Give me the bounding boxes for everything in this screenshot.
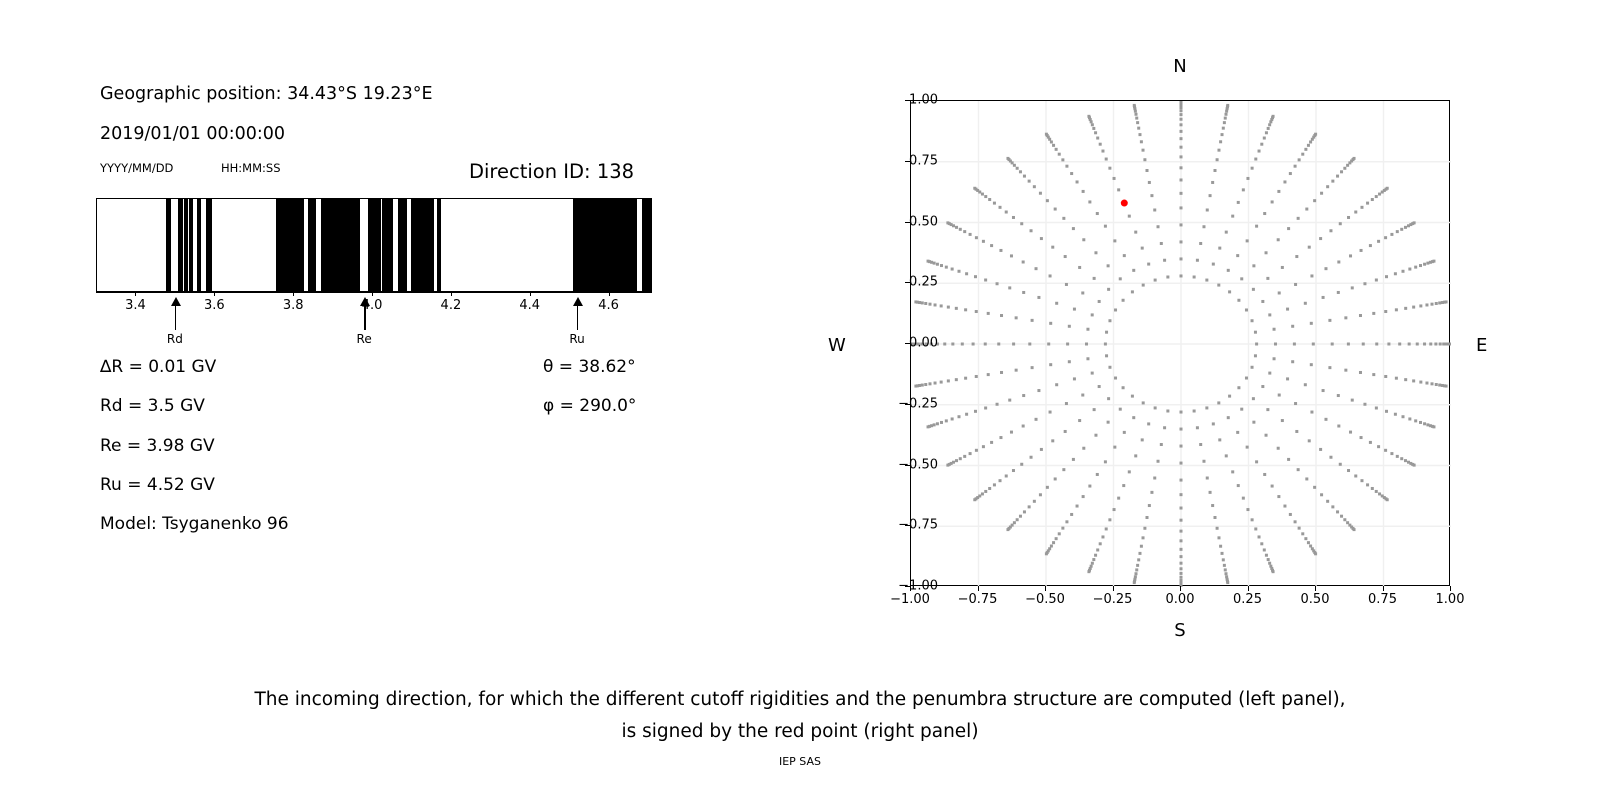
direction-point [1297,468,1300,471]
direction-point [1062,468,1065,471]
direction-point [927,425,930,428]
direction-point [1419,264,1422,267]
direction-point [1255,225,1258,228]
direction-point [1265,131,1268,134]
direction-point [1114,308,1117,311]
direction-point [1329,456,1332,459]
direction-point [1086,328,1089,331]
direction-point [1160,242,1163,245]
direction-point [1020,222,1023,225]
direction-point [1254,527,1257,530]
direction-point [1082,238,1085,241]
direction-point [1272,570,1275,573]
direction-point [1019,515,1022,518]
direction-point [1445,300,1448,303]
direction-point [984,279,987,282]
axis-tick-label: 3.8 [283,298,304,313]
direction-point [1199,242,1202,245]
parameter-item: Ru = 4.52 GV [100,475,215,495]
direction-point [1147,263,1150,266]
direction-point [1291,360,1294,363]
direction-point [961,343,964,346]
polar-x-tick-label: −1.00 [890,592,930,607]
direction-point [1366,202,1369,205]
direction-point [1419,381,1422,384]
direction-point [1006,528,1009,531]
direction-point [1266,408,1269,411]
direction-point [1274,343,1277,346]
direction-point [1000,371,1003,374]
direction-point [1180,567,1183,570]
direction-point [1180,428,1183,431]
direction-point [1049,363,1052,366]
direction-point [1012,343,1015,346]
direction-point [969,452,972,455]
direction-point [1260,542,1263,545]
direction-point [1055,537,1058,540]
direction-point [1246,446,1249,449]
axis-tick [530,292,531,296]
direction-point [1023,510,1026,513]
direction-point [1404,459,1407,462]
direction-point [1227,416,1230,419]
axis-tick [293,292,294,296]
penumbra-forbidden-band [184,199,188,291]
direction-point [1396,230,1399,233]
direction-point [1143,158,1146,161]
direction-point [1104,343,1107,346]
direction-point [957,415,960,418]
axis-tick [451,292,452,296]
direction-point [1108,518,1111,521]
direction-point [1431,303,1434,306]
direction-point [1142,536,1145,539]
direction-point [1366,483,1369,486]
direction-point [1432,425,1435,428]
direction-point [1180,507,1183,510]
direction-point [1336,175,1339,178]
direction-point [1122,386,1125,389]
direction-point [936,422,939,425]
direction-point [1131,395,1134,398]
direction-point [1005,474,1008,477]
direction-point [1099,143,1102,146]
polar-y-tick-label: 0.00 [909,336,938,351]
direction-point [1265,251,1268,254]
direction-plot-area [910,100,1450,586]
direction-point [1353,157,1356,160]
direction-point [1180,206,1183,209]
direction-point [1134,572,1137,575]
direction-point [951,343,954,346]
direction-point [1385,410,1388,413]
direction-point [1150,194,1153,197]
axis-tick [135,292,136,296]
direction-point [1271,200,1274,203]
direction-point [1101,535,1104,538]
direction-point [1098,300,1101,303]
direction-point [988,198,991,201]
direction-point [1091,123,1094,126]
direction-point [1340,515,1343,518]
direction-point [1432,260,1435,263]
direction-point [1331,180,1334,183]
direction-point [1180,445,1183,448]
direction-point [1408,343,1411,346]
direction-point [1064,255,1067,258]
direction-point [1218,438,1221,441]
direction-point [1216,158,1219,161]
direction-point [1010,254,1013,257]
direction-point [1308,246,1311,249]
direction-point [1154,406,1157,409]
direction-point [1073,377,1076,380]
direction-point [1404,226,1407,229]
direction-point [1054,208,1057,211]
direction-point [1010,431,1013,434]
direction-point [1092,127,1095,130]
direction-point [1065,402,1068,405]
direction-point [1254,354,1257,357]
direction-point [1310,363,1313,366]
polar-y-tick-label: −0.25 [898,396,938,411]
direction-point [940,381,943,384]
caption-line-1: The incoming direction, for which the di… [0,684,1600,716]
direction-point [1326,500,1329,503]
direction-point [1398,343,1401,346]
direction-point [1339,222,1342,225]
polar-y-tick-label: 0.75 [909,153,938,168]
direction-point [1267,127,1270,130]
direction-point [928,303,931,306]
direction-point [1166,275,1169,278]
direction-point [1236,254,1239,257]
direction-point [1148,181,1151,184]
parameter-item: Re = 3.98 GV [100,436,215,456]
direction-point [1402,270,1405,273]
polar-y-tick-label: −1.00 [898,579,938,594]
caption-line-2: is signed by the red point (right panel) [0,716,1600,748]
direction-point [1449,343,1451,346]
penumbra-forbidden-band [368,199,381,291]
direction-point [1224,117,1227,120]
direction-point [940,264,943,267]
direction-point [1246,508,1249,511]
direction-point [1312,343,1315,346]
compass-label-south: S [1174,620,1185,641]
direction-point [1050,545,1053,548]
direction-point [1180,555,1183,558]
direction-point [1369,441,1372,444]
direction-point [1008,286,1011,289]
direction-point [1136,564,1139,567]
direction-point [1180,479,1183,482]
direction-point [1277,238,1280,241]
direction-point [940,421,943,424]
direction-point [1180,576,1183,579]
axis-tick-label: 4.2 [441,298,462,313]
direction-point [1142,149,1145,152]
direction-point [951,417,954,420]
parameter-item: θ = 38.62° [543,357,636,377]
direction-point [1286,308,1289,311]
direction-point [1375,195,1378,198]
direction-point [1119,408,1122,411]
compass-label-west: W [828,335,846,356]
direction-point [1304,302,1307,305]
direction-point [1216,527,1219,530]
direction-point [975,310,978,313]
penumbra-forbidden-band [573,199,637,291]
direction-point [1051,439,1054,442]
penumbra-forbidden-band [206,199,212,291]
direction-point [1438,301,1441,304]
direction-point [1180,137,1183,140]
direction-point [1265,554,1268,557]
direction-point [1131,290,1134,293]
direction-point [1260,143,1263,146]
direction-point [1180,539,1183,542]
polar-x-tick-label: 0.25 [1233,592,1262,607]
direction-point [1040,237,1043,240]
direction-point [1344,316,1347,319]
direction-point [1104,225,1107,228]
direction-point [957,270,960,273]
direction-point [1212,422,1215,425]
polar-y-tick-label: −0.75 [898,518,938,533]
penumbra-forbidden-band [189,199,192,291]
direction-point [1377,240,1380,243]
polar-x-tick-label: 1.00 [1436,592,1465,607]
direction-point [1343,167,1346,170]
direction-point [1347,216,1350,219]
direction-point [975,375,978,378]
axis-line [96,292,652,293]
direction-point [1180,274,1183,277]
direction-point [1375,406,1378,409]
direction-point [1305,208,1308,211]
direction-point [1113,177,1116,180]
direction-point [1254,331,1257,334]
direction-point [1231,470,1234,473]
penumbra-forbidden-band [276,199,304,291]
parameter-item: ∆R = 0.01 GV [100,357,216,377]
arrow-shaft [364,304,365,330]
direction-point [1211,504,1214,507]
direction-point [1354,211,1357,214]
direction-point [1252,288,1255,291]
direction-point [1237,386,1240,389]
direction-point [1413,464,1416,467]
direction-point [1180,109,1183,112]
direction-point [914,385,917,388]
axis-tick-label: 3.4 [125,298,146,313]
direction-point [1180,240,1183,243]
direction-point [1193,275,1196,278]
penumbra-forbidden-band [437,199,441,291]
direction-point [1416,343,1419,346]
direction-scatter-svg [911,101,1451,587]
direction-point [1294,402,1297,405]
direction-point [1039,493,1042,496]
direction-point [921,384,924,387]
direction-point [1037,296,1040,299]
direction-point [1329,229,1332,232]
direction-point [1072,458,1075,461]
direction-point [1217,536,1220,539]
direction-point [1180,223,1183,226]
rigidity-marker-label: Rd [167,332,183,346]
direction-point [999,479,1002,482]
direction-point [1222,127,1225,130]
direction-point [943,343,946,346]
direction-point [1268,123,1271,126]
direction-point [1142,401,1145,404]
direction-point [1277,495,1280,498]
direction-point [1140,545,1143,548]
direction-point [1055,383,1058,386]
direction-point [1263,473,1266,476]
parameter-item: φ = 290.0° [543,396,636,416]
direction-point [1054,477,1057,480]
datetime-label: 2019/01/01 00:00:00 [100,124,285,144]
direction-point [1023,175,1026,178]
direction-point [1107,397,1110,400]
direction-point [981,193,984,196]
direction-point [1206,208,1209,211]
direction-point [1132,269,1135,272]
axis-tick-label: 3.6 [204,298,225,313]
direction-point [1322,389,1325,392]
direction-point [1078,419,1081,422]
direction-point [1414,266,1417,269]
direction-point [1086,357,1089,360]
direction-point [990,244,993,247]
direction-point [1128,470,1131,473]
direction-point [1012,469,1015,472]
direction-point [1015,369,1018,372]
direction-point [973,498,976,501]
direction-point [1045,133,1048,136]
direction-point [1375,279,1378,282]
selected-direction-marker[interactable] [1121,200,1128,207]
direction-point [997,343,1000,346]
direction-point [1349,254,1352,257]
direction-point [927,260,930,263]
direction-point [1240,277,1243,280]
direction-point [973,187,976,190]
direction-point [1107,421,1110,424]
direction-point [1180,130,1183,133]
direction-point [934,303,937,306]
direction-point [1343,518,1346,521]
direction-point [1137,127,1140,130]
direction-point [1061,527,1064,530]
direction-point [1254,158,1257,161]
direction-point [964,377,967,380]
direction-point [975,449,978,452]
direction-point [1307,541,1310,544]
direction-point [1094,251,1097,254]
direction-point [1209,491,1212,494]
direction-point [1354,474,1357,477]
direction-point [1328,366,1331,369]
direction-point [1237,299,1240,302]
direction-point [1272,115,1275,118]
direction-point [982,445,985,448]
direction-point [1163,259,1166,262]
direction-point [1108,319,1111,322]
direction-point [1105,331,1108,334]
direction-point [1268,372,1271,375]
direction-point [1295,255,1298,258]
direction-point [1051,246,1054,249]
direction-point [1085,343,1088,346]
direction-point [1217,149,1220,152]
polar-x-tick [1315,586,1316,591]
direction-point [1133,581,1136,584]
direction-point [1386,187,1389,190]
direction-point [1091,372,1094,375]
direction-point [1344,369,1347,372]
direction-point [1104,460,1107,463]
direction-point [1319,237,1322,240]
direction-point [1160,443,1163,446]
direction-point [1199,443,1202,446]
axis-tick [214,292,215,296]
direction-point [1413,221,1416,224]
direction-point [1351,399,1354,402]
direction-point [1153,208,1156,211]
direction-point [1322,296,1325,299]
direction-point [1070,172,1073,175]
direction-point [1072,227,1075,230]
direction-point [1295,430,1298,433]
direction-point [1298,158,1301,161]
parameter-item: Rd = 3.5 GV [100,396,205,416]
direction-point [1058,153,1061,156]
direction-point [996,282,999,285]
penumbra-forbidden-band [642,199,652,291]
figure-caption: The incoming direction, for which the di… [0,684,1600,749]
direction-point [1030,229,1033,232]
direction-point [964,308,967,311]
direction-point [1310,322,1313,325]
direction-point [1163,426,1166,429]
direction-point [1225,572,1228,575]
direction-point [1137,558,1140,561]
axis-tick-label: 4.4 [519,298,540,313]
direction-point [1255,460,1258,463]
direction-point [1033,185,1036,188]
direction-point [1147,422,1150,425]
direction-point [1180,493,1183,496]
direction-point [1180,146,1183,149]
direction-point [1123,431,1126,434]
polar-y-tick-label: −0.50 [898,457,938,472]
rigidity-axis: 3.43.63.84.04.24.44.6RdReRu [96,292,652,352]
direction-point [1385,275,1388,278]
polar-y-tick-label: 1.00 [909,93,938,108]
penumbra-forbidden-band [382,199,392,291]
direction-point [1377,445,1380,448]
direction-point [984,343,987,346]
axis-tick [609,292,610,296]
direction-point [940,304,943,307]
direction-point [1362,343,1365,346]
direction-point [1035,267,1038,270]
direction-point [1221,133,1224,136]
